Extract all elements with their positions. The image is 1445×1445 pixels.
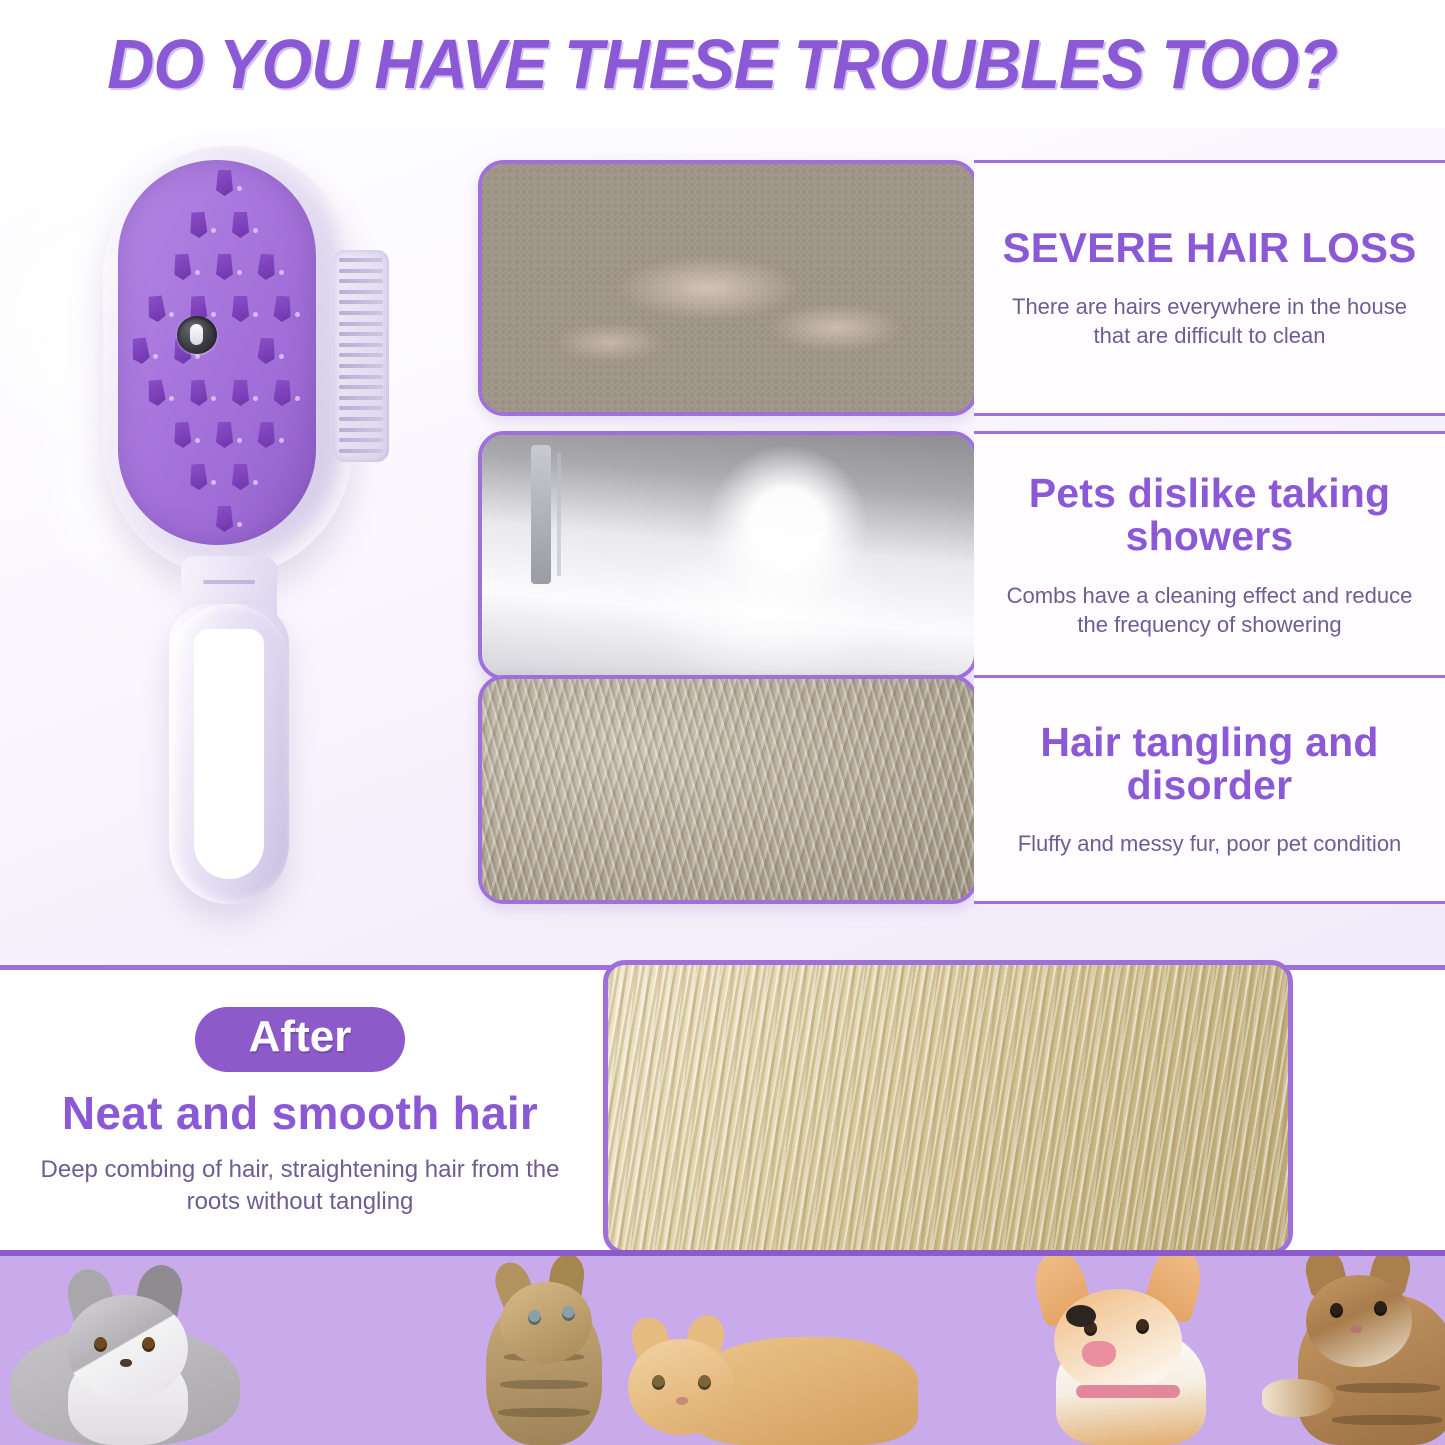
brush-bristle (257, 338, 275, 365)
pet-photo-band (0, 1250, 1445, 1445)
grey-and-white-british-shorthair-cat (10, 1255, 250, 1445)
brush-vent-slit (339, 406, 383, 410)
brush-bristle (216, 254, 233, 280)
problem-title: Pets dislike taking showers (1000, 472, 1419, 559)
brush-bristle (189, 464, 207, 491)
neat-smooth-golden-fur-photo (608, 965, 1288, 1250)
brush-bristle-highlight (295, 396, 300, 401)
dog-head (1054, 1289, 1182, 1393)
brush-bristle (173, 422, 191, 449)
fluffy-brown-tabby-cat-raising-paw (1262, 1250, 1445, 1445)
brush-bristle-highlight (195, 438, 200, 443)
brush-vent-slit (339, 396, 383, 400)
problem-photo (478, 675, 978, 904)
after-badge: After (195, 1007, 406, 1071)
brush-vent-slit (339, 311, 383, 315)
cat-head (1306, 1275, 1412, 1367)
after-description: Deep combing of hair, straightening hair… (40, 1154, 560, 1218)
brush-bristle (232, 464, 249, 490)
brush-bristle-highlight (253, 228, 258, 233)
brush-vent-slit (339, 269, 383, 273)
brush-bristle (147, 379, 167, 407)
brush-vent-slit (339, 322, 383, 326)
brush-seam-line (203, 580, 255, 584)
brush-bristle (257, 254, 275, 281)
brush-bristle-highlight (253, 312, 258, 317)
cat-raised-paw (1262, 1379, 1334, 1417)
cat-stripe (1332, 1415, 1442, 1425)
cat-nose (1350, 1325, 1362, 1333)
brush-bristle (147, 295, 167, 323)
cat-nose (676, 1397, 688, 1405)
brush-bristle (189, 212, 207, 239)
brush-bristle-highlight (279, 354, 284, 359)
cat-eye-left (94, 1337, 107, 1352)
dog-collar (1076, 1385, 1180, 1398)
brush-bristle-highlight (169, 312, 174, 317)
brush-bristle (232, 380, 249, 406)
cat-eye-right (1374, 1301, 1387, 1316)
after-text-block: After Neat and smooth hair Deep combing … (0, 970, 600, 1255)
brush-bristle (257, 422, 275, 449)
brush-vent-slit (339, 279, 383, 283)
dog-nose (1066, 1305, 1096, 1327)
brush-vent-slit (339, 375, 383, 379)
problem-text-panel: SEVERE HAIR LOSS There are hairs everywh… (974, 160, 1445, 416)
brush-bristle (273, 380, 291, 407)
tangled-messy-fur-photo (482, 679, 974, 900)
brush-bristle-highlight (253, 396, 258, 401)
brush-bristle-highlight (253, 480, 258, 485)
problem-description: Fluffy and messy fur, poor pet condition (1018, 829, 1402, 858)
dog-eye-right (1136, 1319, 1149, 1334)
brush-loop-handle (169, 604, 289, 904)
cat-nose (120, 1359, 132, 1367)
brush-vent-slit (339, 300, 383, 304)
problem-row: Hair tangling and disorder Fluffy and me… (478, 675, 1445, 904)
problem-text-panel: Hair tangling and disorder Fluffy and me… (974, 675, 1445, 904)
cat-head (66, 1295, 188, 1401)
orange-tabby-cat-lying-down (598, 1295, 918, 1445)
brush-vent-slit (339, 364, 383, 368)
brush-vent-slit (339, 353, 383, 357)
brush-bristle-highlight (195, 354, 200, 359)
brush-bristle-highlight (195, 270, 200, 275)
page-title: DO YOU HAVE THESE TROUBLES TOO? (108, 24, 1338, 104)
brush-vent-slit (339, 428, 383, 432)
title-bar: DO YOU HAVE THESE TROUBLES TOO? (0, 0, 1445, 128)
brush-bristle-highlight (211, 480, 216, 485)
cat-eye-right (698, 1375, 711, 1390)
brush-bristle-highlight (153, 354, 158, 359)
problem-row: Pets dislike taking showers Combs have a… (478, 431, 1445, 680)
problems-stage: SEVERE HAIR LOSS There are hairs everywh… (0, 128, 1445, 965)
cat-eye-left (1330, 1303, 1343, 1318)
cat-stripe (498, 1408, 590, 1417)
brush-bristle-highlight (279, 438, 284, 443)
brush-bristle-highlight (237, 438, 242, 443)
brush-bristle-highlight (211, 396, 216, 401)
problem-text-panel: Pets dislike taking showers Combs have a… (974, 431, 1445, 680)
brush-vent-slit (339, 343, 383, 347)
dog-tongue (1082, 1341, 1116, 1367)
steam-nozzle (177, 316, 217, 354)
brush-bristle-highlight (169, 396, 174, 401)
brush-bristle-highlight (211, 312, 216, 317)
brush-bristle-highlight (279, 270, 284, 275)
problem-description: Combs have a cleaning effect and reduce … (1000, 581, 1419, 639)
brush-vent-slit (339, 438, 383, 442)
cat-stripe (1336, 1383, 1440, 1393)
brush-bristle-highlight (211, 228, 216, 233)
cat-eye-left (528, 1310, 541, 1325)
brush-bristle (216, 170, 233, 196)
brush-bristle (173, 254, 191, 281)
carpet-covered-in-pet-hair-photo (482, 164, 974, 412)
problem-description: There are hairs everywhere in the house … (1000, 292, 1419, 350)
brush-bristle (131, 337, 151, 365)
product-image-steam-brush (85, 138, 405, 898)
cat-stripe (500, 1380, 588, 1389)
brush-bristle-highlight (237, 522, 242, 527)
brush-vent-slit (339, 449, 383, 453)
brush-bristle (232, 212, 249, 238)
brush-vent-slit (339, 290, 383, 294)
brush-vent-slit (339, 332, 383, 336)
brush-vent-slit (339, 258, 383, 262)
corgi-dog-smiling (1010, 1250, 1250, 1445)
brush-bristle (189, 380, 207, 407)
brush-vent-slit (339, 385, 383, 389)
problem-title: SEVERE HAIR LOSS (1003, 226, 1417, 271)
cat-eye-left (652, 1375, 665, 1390)
white-cat-in-bathtub-photo (482, 435, 974, 676)
after-section: After Neat and smooth hair Deep combing … (0, 965, 1445, 1250)
brush-bristle (216, 506, 233, 532)
brush-bristle (232, 296, 249, 322)
brush-bristle-highlight (237, 270, 242, 275)
cat-head (628, 1339, 734, 1435)
brush-silicone-pad (118, 160, 316, 545)
problem-title: Hair tangling and disorder (1000, 721, 1419, 808)
brush-vent-grille (333, 250, 389, 462)
cat-eye-right (142, 1337, 155, 1352)
problem-row: SEVERE HAIR LOSS There are hairs everywh… (478, 160, 1445, 416)
after-photo (603, 960, 1293, 1255)
after-title: Neat and smooth hair (62, 1086, 538, 1140)
brush-bristle (273, 296, 291, 323)
problem-photo (478, 431, 978, 680)
brush-bristle-highlight (237, 186, 242, 191)
problem-photo (478, 160, 978, 416)
brush-bristle-highlight (295, 312, 300, 317)
brush-vent-slit (339, 417, 383, 421)
brush-bristle (216, 422, 233, 448)
cat-eye-right (562, 1306, 575, 1321)
